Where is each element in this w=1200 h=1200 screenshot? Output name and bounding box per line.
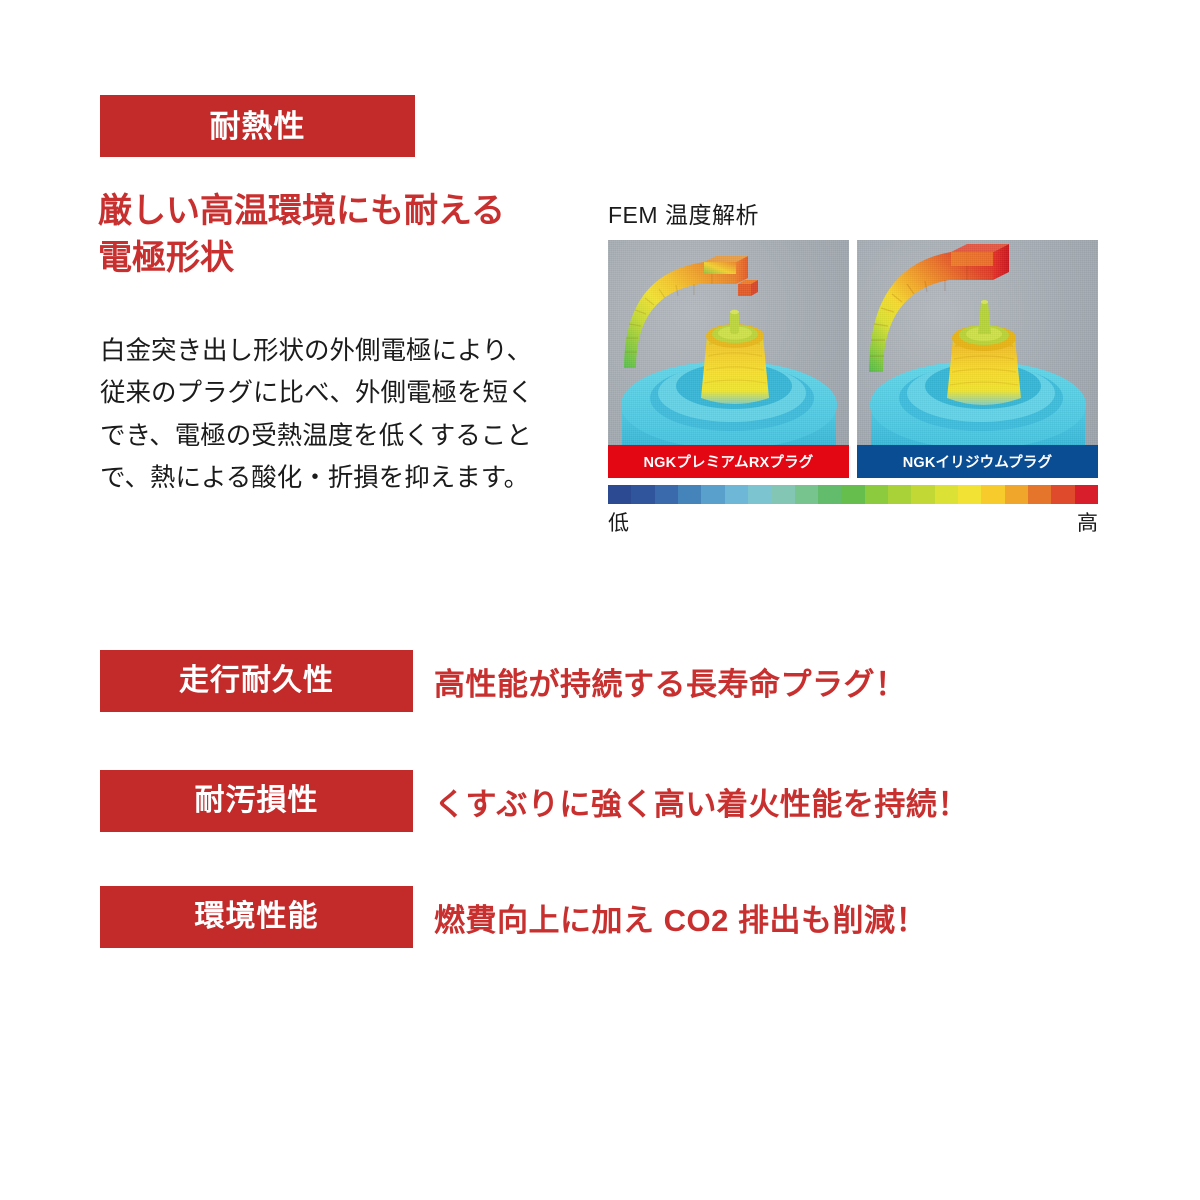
fem-color-scale-step-19 — [1051, 485, 1074, 504]
fem-color-scale-bar — [608, 485, 1098, 504]
fem-color-scale-step-9 — [818, 485, 841, 504]
feature-row-environmental: 環境性能 燃費向上に加え CO2 排出も削減！ — [100, 886, 1100, 948]
fem-panel-premium-rx: NGKプレミアムRXプラグ — [608, 240, 849, 478]
feature-row-durability: 走行耐久性 高性能が持続する長寿命プラグ！ — [100, 650, 1100, 712]
fem-analysis-figure: FEM 温度解析 — [608, 196, 1098, 537]
fem-caption-premium-rx: NGKプレミアムRXプラグ — [608, 445, 849, 478]
feature-text-durability: 高性能が持続する長寿命プラグ！ — [434, 650, 907, 712]
feature-badge-environmental-label: 環境性能 — [195, 902, 319, 932]
feature-text-environmental: 燃費向上に加え CO2 排出も削減！ — [434, 886, 927, 948]
fem-caption-iridium-label: NGKイリジウムプラグ — [903, 451, 1053, 472]
heat-resistance-badge: 耐熱性 — [100, 95, 415, 157]
fem-scale-label-low: 低 — [608, 507, 629, 537]
fem-color-scale-step-12 — [888, 485, 911, 504]
fem-thermal-render-iridium — [857, 240, 1098, 478]
fem-color-scale-step-11 — [865, 485, 888, 504]
fem-color-scale-step-3 — [678, 485, 701, 504]
heat-resistance-heading-line-2: 電極形状 — [98, 235, 598, 282]
fem-color-scale-step-20 — [1075, 485, 1098, 504]
fem-color-scale-step-5 — [725, 485, 748, 504]
heat-resistance-heading-line-1: 厳しい高温環境にも耐える — [98, 188, 598, 235]
feature-text-fouling-resistance: くすぶりに強く高い着火性能を持続！ — [434, 770, 969, 832]
fem-color-scale-step-0 — [608, 485, 631, 504]
fem-color-scale-labels: 低 高 — [608, 507, 1098, 537]
heat-resistance-badge-label: 耐熱性 — [210, 111, 306, 142]
body-line-1: 白金突き出し形状の外側電極により、 — [100, 330, 590, 372]
fem-caption-iridium: NGKイリジウムプラグ — [857, 445, 1098, 478]
feature-badge-fouling-resistance-label: 耐汚損性 — [195, 786, 319, 816]
fem-scale-label-high: 高 — [1077, 507, 1098, 537]
fem-color-scale-step-10 — [841, 485, 864, 504]
fem-color-scale: 低 高 — [608, 485, 1098, 537]
body-line-3: でき、電極の受熱温度を低くすること — [100, 415, 590, 457]
fem-color-scale-step-4 — [701, 485, 724, 504]
fem-color-scale-step-1 — [631, 485, 654, 504]
body-line-2: 従来のプラグに比べ、外側電極を短く — [100, 372, 590, 414]
body-line-4: で、熱による酸化・折損を抑えます。 — [100, 457, 590, 499]
fem-color-scale-step-17 — [1005, 485, 1028, 504]
fem-panel-iridium: NGKイリジウムプラグ — [857, 240, 1098, 478]
fem-color-scale-step-2 — [655, 485, 678, 504]
fem-panel-group: NGKプレミアムRXプラグ — [608, 240, 1098, 478]
fem-color-scale-step-7 — [771, 485, 794, 504]
fem-color-scale-step-8 — [795, 485, 818, 504]
fem-analysis-title: FEM 温度解析 — [608, 196, 1098, 230]
feature-row-fouling-resistance: 耐汚損性 くすぶりに強く高い着火性能を持続！ — [100, 770, 1100, 832]
fem-color-scale-step-6 — [748, 485, 771, 504]
fem-color-scale-step-13 — [911, 485, 934, 504]
feature-badge-durability: 走行耐久性 — [100, 650, 413, 712]
fem-color-scale-step-14 — [935, 485, 958, 504]
feature-badge-environmental: 環境性能 — [100, 886, 413, 948]
feature-badge-fouling-resistance: 耐汚損性 — [100, 770, 413, 832]
fem-color-scale-step-16 — [981, 485, 1004, 504]
fem-color-scale-step-15 — [958, 485, 981, 504]
heat-resistance-body-text: 白金突き出し形状の外側電極により、 従来のプラグに比べ、外側電極を短く でき、電… — [100, 330, 590, 499]
heat-resistance-heading: 厳しい高温環境にも耐える 電極形状 — [98, 188, 598, 282]
feature-badge-durability-label: 走行耐久性 — [179, 666, 334, 696]
fem-color-scale-step-18 — [1028, 485, 1051, 504]
fem-thermal-render-premium-rx — [608, 240, 849, 478]
fem-caption-premium-rx-label: NGKプレミアムRXプラグ — [644, 451, 814, 472]
